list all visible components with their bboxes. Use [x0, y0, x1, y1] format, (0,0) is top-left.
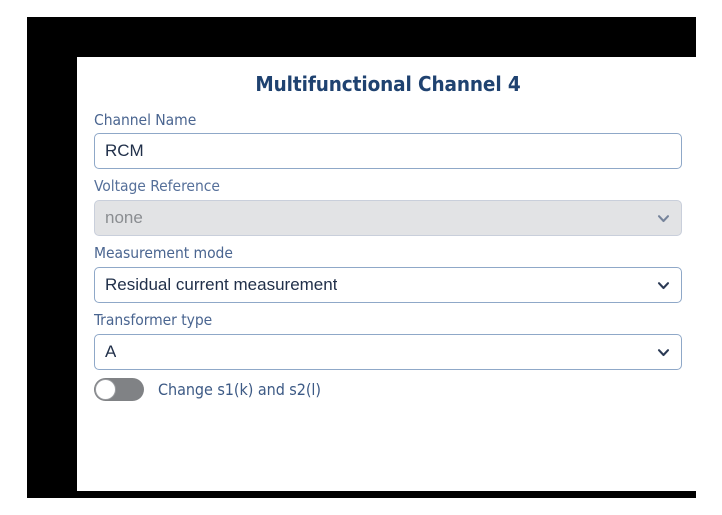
chevron-down-icon[interactable] [657, 346, 670, 359]
transformer-type-label: Transformer type [94, 310, 682, 331]
change-s1-s2-toggle[interactable] [94, 378, 144, 401]
form-row-transformer-type: Transformer type A [94, 310, 682, 370]
measurement-mode-select[interactable]: Residual current measurement [94, 267, 682, 303]
transformer-type-select[interactable]: A [94, 334, 682, 370]
chevron-down-icon[interactable] [657, 279, 670, 292]
channel-name-label: Channel Name [94, 110, 682, 131]
device-frame: Multifunctional Channel 4 Channel Name V… [27, 17, 696, 498]
voltage-reference-label: Voltage Reference [94, 176, 682, 197]
change-s1-s2-label: Change s1(k) and s2(l) [158, 380, 321, 399]
channel-name-input[interactable] [94, 133, 682, 169]
measurement-mode-value: Residual current measurement [105, 272, 337, 298]
form-row-channel-name: Channel Name [94, 110, 682, 170]
form-row-voltage-reference: Voltage Reference none [94, 176, 682, 236]
page-title: Multifunctional Channel 4 [77, 57, 699, 110]
voltage-reference-value: none [105, 205, 143, 231]
toggle-knob [95, 379, 116, 400]
form-row-measurement-mode: Measurement mode Residual current measur… [94, 243, 682, 303]
transformer-type-value: A [105, 339, 116, 365]
channel-config-dialog: Multifunctional Channel 4 Channel Name V… [77, 57, 699, 491]
chevron-down-icon [657, 212, 670, 225]
form-row-change-s1-s2: Change s1(k) and s2(l) [94, 378, 682, 401]
channel-config-form: Channel Name Voltage Reference none Meas [77, 110, 699, 402]
voltage-reference-select: none [94, 200, 682, 236]
measurement-mode-label: Measurement mode [94, 243, 682, 264]
